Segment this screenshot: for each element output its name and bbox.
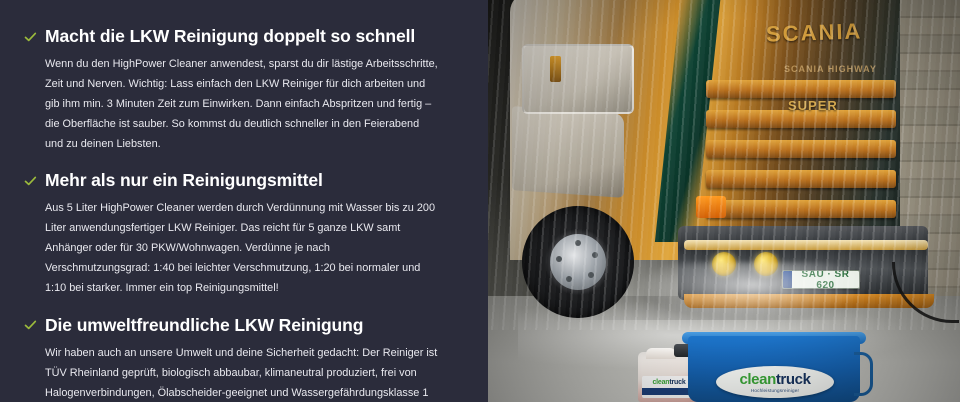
truck-side-panel xyxy=(512,106,624,198)
benefit-body: Aus 5 Liter HighPower Cleaner werden dur… xyxy=(24,199,460,298)
canister-logo-clean: clean xyxy=(652,379,669,386)
benefit-heading: Die umweltfreundliche LKW Reinigung xyxy=(24,315,460,335)
hub-nut xyxy=(556,256,562,262)
logo-clean-text: clean xyxy=(739,371,775,388)
benefit-heading: Mehr als nur ein Reinigungsmittel xyxy=(24,170,460,190)
check-icon xyxy=(24,175,37,188)
truck-washing-photo: SCANIA SCANIA HIGHWAY SUPER SAU · SR 620 xyxy=(488,0,960,402)
product-benefits-section: Macht die LKW Reinigung doppelt so schne… xyxy=(0,0,960,402)
benefit-item: Macht die LKW Reinigung doppelt so schne… xyxy=(24,26,460,154)
cleantruck-logo: cleantruck Hochleistungsreiniger xyxy=(716,366,834,398)
truck-subtext: SCANIA HIGHWAY xyxy=(784,64,877,74)
grille-bar xyxy=(706,80,896,98)
logo-tagline: Hochleistungsreiniger xyxy=(751,388,799,393)
benefit-title: Die umweltfreundliche LKW Reinigung xyxy=(45,315,363,335)
hub-nut xyxy=(588,272,594,278)
hub-nut xyxy=(566,276,572,282)
bumper-chrome-strip xyxy=(684,240,928,250)
truck-mirror xyxy=(550,56,561,82)
grille-bar xyxy=(706,140,896,158)
hub-nut xyxy=(592,252,598,258)
scania-badge: SCANIA xyxy=(766,18,863,47)
canister-logo-truck: truck xyxy=(669,379,685,386)
grille-bar xyxy=(706,200,896,218)
bucket-handle xyxy=(854,352,873,396)
benefits-text-panel: Macht die LKW Reinigung doppelt so schne… xyxy=(0,0,488,402)
foam-splash xyxy=(638,262,868,320)
benefit-body: Wenn du den HighPower Cleaner anwendest,… xyxy=(24,55,460,154)
canister-wordmark: cleantruck xyxy=(652,379,685,386)
hub-nut xyxy=(575,240,581,246)
benefit-heading: Macht die LKW Reinigung doppelt so schne… xyxy=(24,26,460,46)
benefit-item: Mehr als nur ein Reinigungsmittel Aus 5 … xyxy=(24,170,460,298)
wheel-hub xyxy=(550,234,606,290)
turn-indicator-lamp xyxy=(696,196,726,218)
benefit-body: Wir haben auch an unsere Umwelt und dein… xyxy=(24,344,460,402)
benefit-title: Macht die LKW Reinigung doppelt so schne… xyxy=(45,26,415,46)
truck-side-window xyxy=(522,44,634,114)
check-icon xyxy=(24,319,37,332)
benefit-item: Die umweltfreundliche LKW Reinigung Wir … xyxy=(24,315,460,402)
benefit-title: Mehr als nur ein Reinigungsmittel xyxy=(45,170,323,190)
grille-bar xyxy=(706,170,896,188)
logo-truck-text: truck xyxy=(776,371,811,388)
check-icon xyxy=(24,31,37,44)
logo-wordmark: cleantruck xyxy=(739,372,810,387)
canister-handle xyxy=(646,348,676,359)
super-badge: SUPER xyxy=(788,98,838,113)
